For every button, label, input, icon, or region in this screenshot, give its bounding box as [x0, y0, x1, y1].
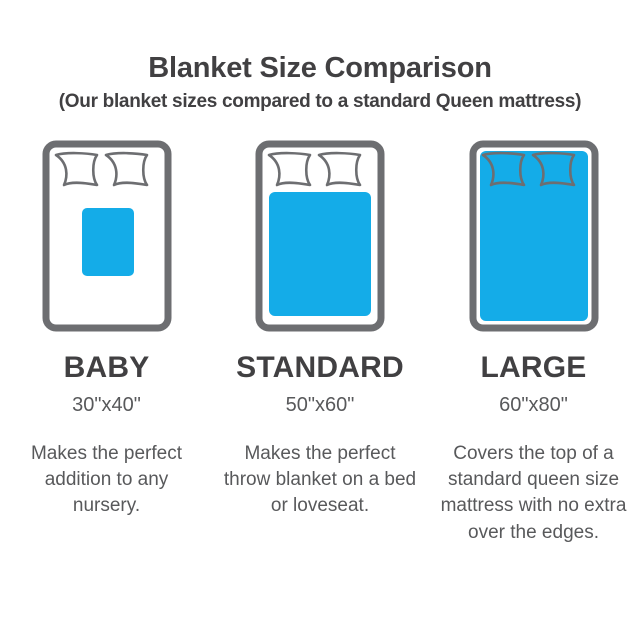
size-name-baby: BABY [64, 353, 150, 383]
blanket-shape-standard [269, 192, 371, 316]
size-column-baby: BABY 30"x40" Makes the perfect addition … [0, 140, 213, 520]
size-dimensions-baby: 30"x40" [72, 395, 141, 415]
size-description-baby: Makes the perfect addition to any nurser… [9, 441, 205, 520]
size-name-large: LARGE [481, 353, 587, 383]
size-description-large: Covers the top of a standard queen size … [436, 441, 632, 546]
blanket-shape-baby [82, 208, 134, 276]
bed-diagram-baby [42, 140, 172, 332]
bed-diagram-large-wrap [469, 140, 599, 335]
bed-diagram-standard-wrap [255, 140, 385, 335]
page-title: Blanket Size Comparison [0, 52, 640, 85]
size-columns: BABY 30"x40" Makes the perfect addition … [0, 140, 640, 546]
size-column-standard: STANDARD 50"x60" Makes the perfect throw… [214, 140, 427, 520]
bed-diagram-baby-wrap [42, 140, 172, 335]
bed-diagram-standard [255, 140, 385, 332]
blanket-size-comparison-infographic: Blanket Size Comparison (Our blanket siz… [0, 0, 640, 640]
size-name-standard: STANDARD [236, 353, 404, 383]
size-dimensions-standard: 50"x60" [286, 395, 355, 415]
size-dimensions-large: 60"x80" [499, 395, 568, 415]
infographic-header: Blanket Size Comparison (Our blanket siz… [0, 0, 640, 114]
page-subtitle: (Our blanket sizes compared to a standar… [0, 91, 640, 114]
size-column-large: LARGE 60"x80" Covers the top of a standa… [427, 140, 640, 546]
size-description-standard: Makes the perfect throw blanket on a bed… [222, 441, 418, 520]
bed-diagram-large [469, 140, 599, 332]
